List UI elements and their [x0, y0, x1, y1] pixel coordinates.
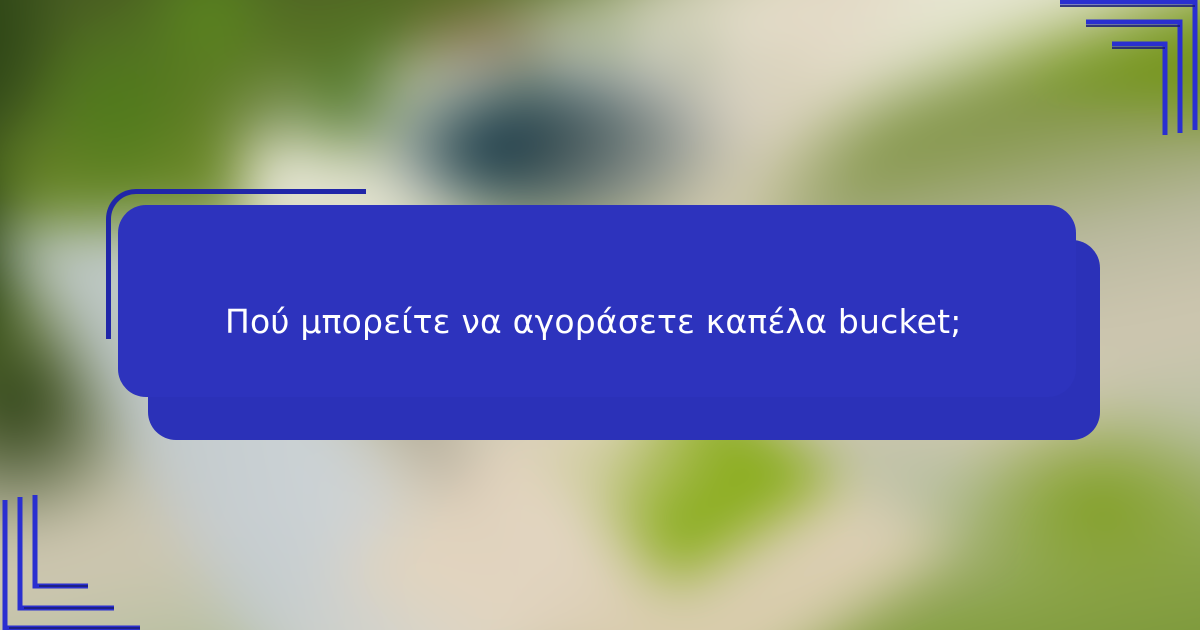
- share-card-canvas: Πού μπορείτε να αγοράσετε καπέλα bucket;: [0, 0, 1200, 630]
- page-title: Πού μπορείτε να αγοράσετε καπέλα bucket;: [118, 300, 1018, 345]
- card-title-block: Πού μπορείτε να αγοράσετε καπέλα bucket;: [118, 205, 1100, 440]
